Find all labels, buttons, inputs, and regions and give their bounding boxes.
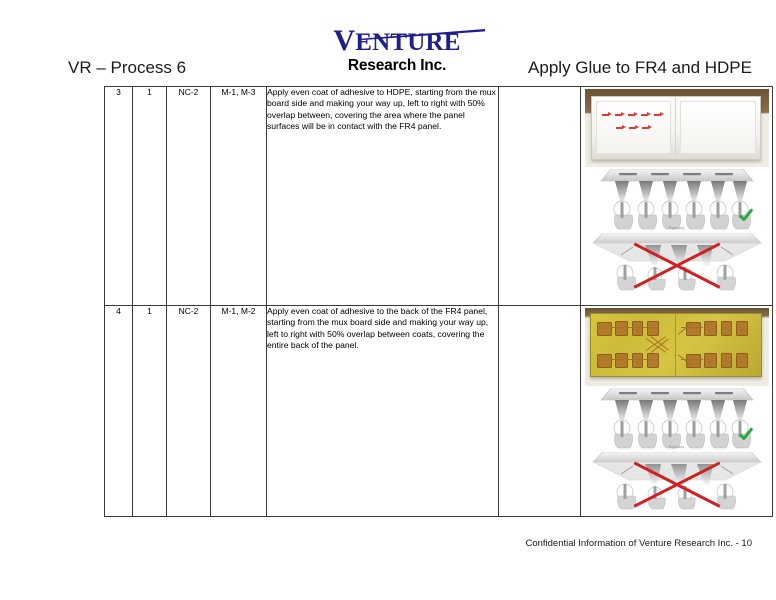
diagram-incorrect-spray (585, 452, 769, 510)
check-icon (739, 207, 755, 223)
adhesive-arrow-icon (642, 125, 652, 130)
cell-notes (499, 306, 581, 517)
page-title-right: Apply Glue to FR4 and HDPE (528, 58, 752, 78)
page-title-left: VR – Process 6 (68, 58, 186, 78)
photo-fr4-panel (585, 308, 769, 386)
adhesive-arrow-icon (602, 112, 612, 117)
pcb-pad (704, 321, 717, 336)
table-row: 4 1 NC-2 M-1, M-2 Apply even coat of adh… (105, 306, 773, 517)
adhesive-arrow-icon (641, 112, 651, 117)
cell-step: 3 (105, 87, 133, 306)
hdpe-board (591, 96, 761, 160)
pcb-pad (736, 321, 748, 336)
pcb-pad (632, 321, 643, 336)
table-row: 3 1 NC-2 M-1, M-3 Apply even coat of adh… (105, 87, 773, 306)
diagram-correct-spray: Right way (585, 388, 769, 450)
pcb-pad (721, 353, 732, 368)
logo-initial: V (333, 24, 355, 57)
pcb-trace (610, 359, 652, 360)
pcb-pad (615, 321, 628, 336)
cell-nc: NC-2 (167, 306, 211, 517)
adhesive-arrow-icon (628, 112, 638, 117)
diagram-incorrect-spray (585, 233, 769, 291)
pcb-pad (615, 353, 628, 368)
cell-nc: NC-2 (167, 87, 211, 306)
cell-qty: 1 (133, 306, 167, 517)
cell-qty: 1 (133, 87, 167, 306)
cross-icon (629, 238, 725, 290)
photo-hdpe-panel (585, 89, 769, 167)
adhesive-arrow-icon (629, 125, 639, 130)
company-logo: VENTURE Research Inc. (322, 28, 472, 76)
cell-description: Apply even coat of adhesive to HDPE, sta… (267, 87, 499, 306)
logo-wordmark-research: Research Inc. (322, 57, 472, 74)
pcb-pad (721, 321, 732, 336)
adhesive-arrow-icon (654, 112, 664, 117)
logo-swoosh-icon (357, 29, 485, 40)
image-stack: Right way (581, 306, 772, 512)
cell-description: Apply even coat of adhesive to the back … (267, 306, 499, 517)
logo-wordmark-venture: VENTURE (333, 28, 460, 56)
pcb-pad (632, 353, 643, 368)
adhesive-arrow-row (602, 112, 664, 117)
adhesive-arrow-icon (616, 125, 626, 130)
image-stack: Right way (581, 87, 772, 293)
adhesive-arrow-row (616, 125, 652, 130)
hdpe-half-left (592, 97, 677, 159)
footer-confidential-notice: Confidential Information of Venture Rese… (525, 538, 752, 549)
hdpe-half-right (676, 97, 760, 159)
cell-notes (499, 87, 581, 306)
pcb-pad (686, 354, 701, 368)
cell-materials: M-1, M-2 (211, 306, 267, 517)
cell-images: Right way (581, 87, 773, 306)
procedure-table: 3 1 NC-2 M-1, M-3 Apply even coat of adh… (104, 86, 773, 517)
pcb-pad (704, 353, 717, 368)
cross-icon (629, 457, 725, 509)
pcb-pad (736, 353, 748, 368)
adhesive-arrow-icon (615, 112, 625, 117)
pcb-pad (597, 322, 612, 336)
fr4-half-left (591, 314, 677, 376)
cell-images: Right way (581, 306, 773, 517)
hdpe-surface (680, 101, 756, 154)
cell-step: 4 (105, 306, 133, 517)
pcb-pad (597, 354, 612, 368)
diagram-caption: Right way (585, 445, 769, 449)
pcb-pad (647, 353, 659, 368)
diagram-caption: Right way (585, 226, 769, 230)
fr4-board (590, 313, 762, 377)
pcb-pad (647, 321, 659, 336)
cell-materials: M-1, M-3 (211, 87, 267, 306)
pcb-trace (610, 327, 652, 328)
check-icon (739, 426, 755, 442)
fr4-half-right (676, 314, 761, 376)
diagram-correct-spray: Right way (585, 169, 769, 231)
